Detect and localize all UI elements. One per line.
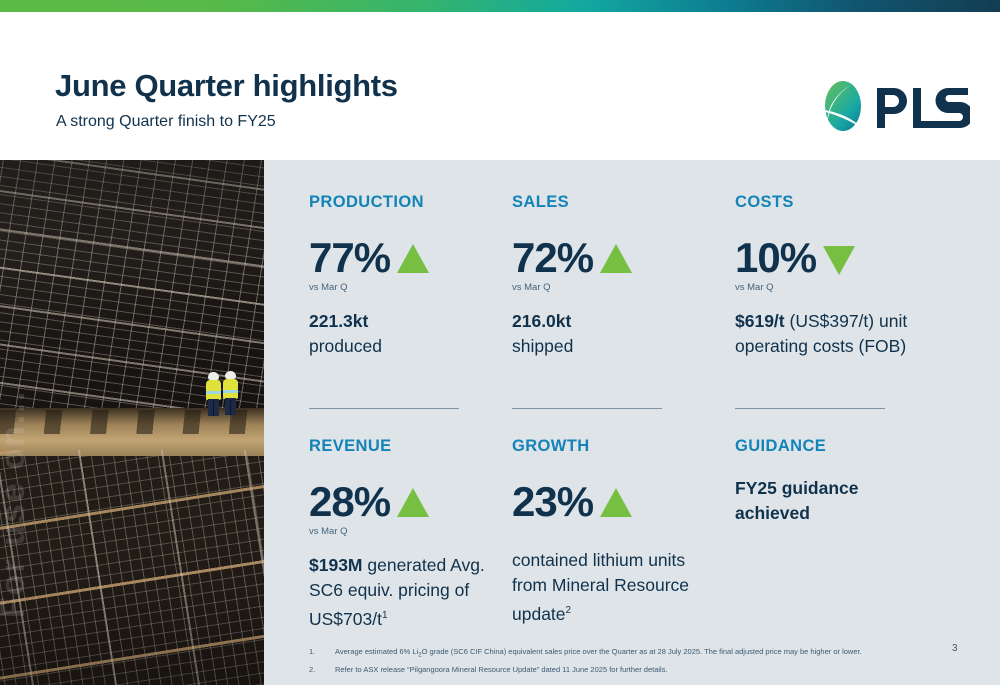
top-gradient-bar bbox=[0, 0, 1000, 12]
divider-col2 bbox=[512, 408, 662, 409]
footnote-text: Refer to ASX release “Pilgangoora Minera… bbox=[335, 663, 668, 676]
footnote-number: 1. bbox=[309, 645, 335, 663]
stat-percent-row: 10% bbox=[735, 238, 925, 284]
trend-up-icon bbox=[600, 488, 632, 517]
footnote-item: 2. Refer to ASX release “Pilgangoora Min… bbox=[309, 663, 909, 676]
stat-body: 221.3kt produced bbox=[309, 309, 519, 359]
stat-percent-value: 72% bbox=[512, 238, 593, 278]
stat-percent-row: 77% bbox=[309, 238, 519, 284]
stat-costs: COSTS 10% vs Mar Q $619/t (US$397/t) uni… bbox=[735, 193, 925, 359]
stat-heading: COSTS bbox=[735, 193, 925, 212]
stat-body-bold: 221.3kt bbox=[309, 311, 368, 331]
stat-footnote-ref: 1 bbox=[382, 610, 388, 621]
stat-body-line2: shipped bbox=[512, 336, 573, 356]
stat-comparison-label: vs Mar Q bbox=[309, 282, 519, 293]
slide-header: June Quarter highlights A strong Quarter… bbox=[0, 12, 1000, 160]
stat-revenue: REVENUE 28% vs Mar Q $193M generated Avg… bbox=[309, 437, 519, 632]
stat-body: FY25 guidance achieved bbox=[735, 476, 905, 526]
footnote-text: Average estimated 6% Li2O grade (SC6 CIF… bbox=[335, 645, 862, 663]
stat-heading: REVENUE bbox=[309, 437, 519, 456]
stat-comparison-label: vs Mar Q bbox=[309, 526, 519, 537]
stat-growth: GROWTH 23% contained lithium units from … bbox=[512, 437, 722, 627]
trend-up-icon bbox=[397, 488, 429, 517]
page-number: 3 bbox=[952, 643, 958, 654]
page-subtitle: A strong Quarter finish to FY25 bbox=[56, 113, 276, 131]
stat-heading: SALES bbox=[512, 193, 722, 212]
stat-body: $193M generated Avg. SC6 equiv. pricing … bbox=[309, 553, 509, 632]
stat-heading: PRODUCTION bbox=[309, 193, 519, 212]
stat-percent-value: 23% bbox=[512, 482, 593, 522]
trend-down-icon bbox=[823, 246, 855, 275]
stat-percent-value: 10% bbox=[735, 238, 816, 278]
stat-guidance: GUIDANCE FY25 guidance achieved bbox=[735, 437, 925, 526]
footnote-item: 1. Average estimated 6% Li2O grade (SC6 … bbox=[309, 645, 909, 663]
divider-col1 bbox=[309, 408, 459, 409]
stat-body-bold: 216.0kt bbox=[512, 311, 571, 331]
stat-body: contained lithium units from Mineral Res… bbox=[512, 548, 692, 627]
stat-heading: GUIDANCE bbox=[735, 437, 925, 456]
stat-body-rest: contained lithium units from Mineral Res… bbox=[512, 550, 689, 624]
stat-footnote-ref: 2 bbox=[566, 605, 572, 616]
footnote-text-pre: Average estimated 6% Li bbox=[335, 647, 418, 656]
stat-percent-row: 72% bbox=[512, 238, 722, 284]
stat-percent-row: 28% bbox=[309, 482, 519, 528]
stat-comparison-label: vs Mar Q bbox=[512, 282, 722, 293]
divider-col3 bbox=[735, 408, 885, 409]
stat-body-line2: produced bbox=[309, 336, 382, 356]
highlights-panel: PRODUCTION 77% vs Mar Q 221.3kt produced… bbox=[264, 160, 1000, 685]
solar-farm-photo: For use on... bbox=[0, 160, 264, 685]
stat-percent-value: 77% bbox=[309, 238, 390, 278]
stat-heading: GROWTH bbox=[512, 437, 722, 456]
stat-percent-row: 23% bbox=[512, 482, 722, 528]
page-title: June Quarter highlights bbox=[55, 68, 398, 104]
stat-production: PRODUCTION 77% vs Mar Q 221.3kt produced bbox=[309, 193, 519, 359]
footnote-number: 2. bbox=[309, 663, 335, 676]
footnote-text-post: O grade (SC6 CIF China) equivalent sales… bbox=[422, 647, 862, 656]
stat-sales: SALES 72% vs Mar Q 216.0kt shipped bbox=[512, 193, 722, 359]
pls-wordmark bbox=[875, 82, 970, 130]
trend-up-icon bbox=[397, 244, 429, 273]
stat-body-bold: $619/t bbox=[735, 311, 785, 331]
slide: June Quarter highlights A strong Quarter… bbox=[0, 0, 1000, 685]
photo-watermark: For use on... bbox=[0, 188, 64, 618]
stat-body: 216.0kt shipped bbox=[512, 309, 722, 359]
stat-body: $619/t (US$397/t) unit operating costs (… bbox=[735, 309, 925, 359]
stat-percent-value: 28% bbox=[309, 482, 390, 522]
stat-body-bold: FY25 guidance achieved bbox=[735, 478, 859, 523]
stat-comparison-label: vs Mar Q bbox=[735, 282, 925, 293]
pls-leaf-icon bbox=[818, 80, 868, 132]
footnotes: 1. Average estimated 6% Li2O grade (SC6 … bbox=[309, 645, 909, 676]
stat-body-bold: $193M bbox=[309, 555, 363, 575]
stat-body-rest: (US$397/t) bbox=[785, 311, 874, 331]
pls-logo bbox=[818, 80, 968, 132]
trend-up-icon bbox=[600, 244, 632, 273]
